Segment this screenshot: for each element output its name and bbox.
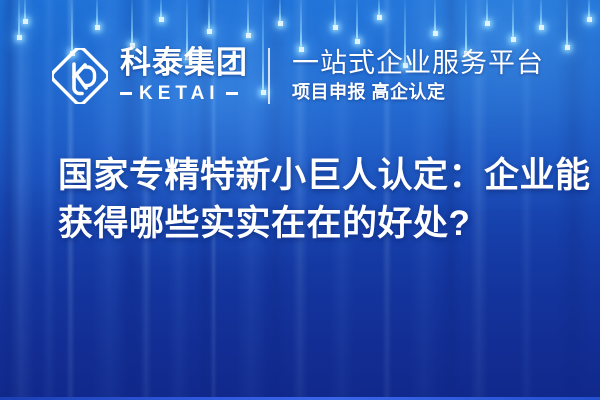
- brand-name-en-row: KETAI: [120, 83, 248, 105]
- brand-name-en: KETAI: [139, 83, 220, 105]
- meteor-streak: [486, 0, 488, 26]
- meteor-streak: [378, 0, 380, 20]
- brand-header: 科泰集团 KETAI 一站式企业服务平台 项目申报 高企认定: [52, 40, 544, 112]
- header-divider: [268, 48, 270, 104]
- meteor-streak: [540, 0, 542, 30]
- meteor-streak: [160, 0, 162, 22]
- ketai-diamond-monogram-icon: [52, 48, 108, 104]
- slogan-main: 一站式企业服务平台: [292, 48, 544, 78]
- meteor-streak: [208, 0, 210, 34]
- brand-wordmark: 科泰集团 KETAI: [120, 47, 248, 105]
- meteor-streak: [512, 0, 514, 42]
- slogan-block: 一站式企业服务平台 项目申报 高企认定: [292, 48, 544, 104]
- meteor-streak: [566, 0, 568, 50]
- meteor-streak: [247, 0, 249, 38]
- left-dash-decoration: [120, 92, 132, 95]
- promo-banner: 科泰集团 KETAI 一站式企业服务平台 项目申报 高企认定 国家专精特新小巨人…: [0, 0, 600, 400]
- headline: 国家专精特新小巨人认定：企业能 获得哪些实实在在的好处?: [58, 152, 578, 248]
- meteor-streak: [18, 0, 20, 40]
- meteor-streak: [24, 0, 26, 24]
- meteor-streak: [434, 0, 436, 36]
- meteor-streak: [96, 0, 98, 30]
- meteor-streak: [356, 0, 358, 44]
- headline-line-1: 国家专精特新小巨人认定：企业能: [58, 152, 578, 200]
- slogan-sub: 项目申报 高企认定: [292, 82, 544, 104]
- meteor-streak: [334, 0, 336, 30]
- right-dash-decoration: [226, 92, 238, 95]
- meteor-streak: [588, 0, 590, 22]
- headline-line-2: 获得哪些实实在在的好处?: [58, 200, 578, 248]
- brand-name-cn: 科泰集团: [120, 47, 248, 80]
- meteor-streak: [279, 0, 281, 26]
